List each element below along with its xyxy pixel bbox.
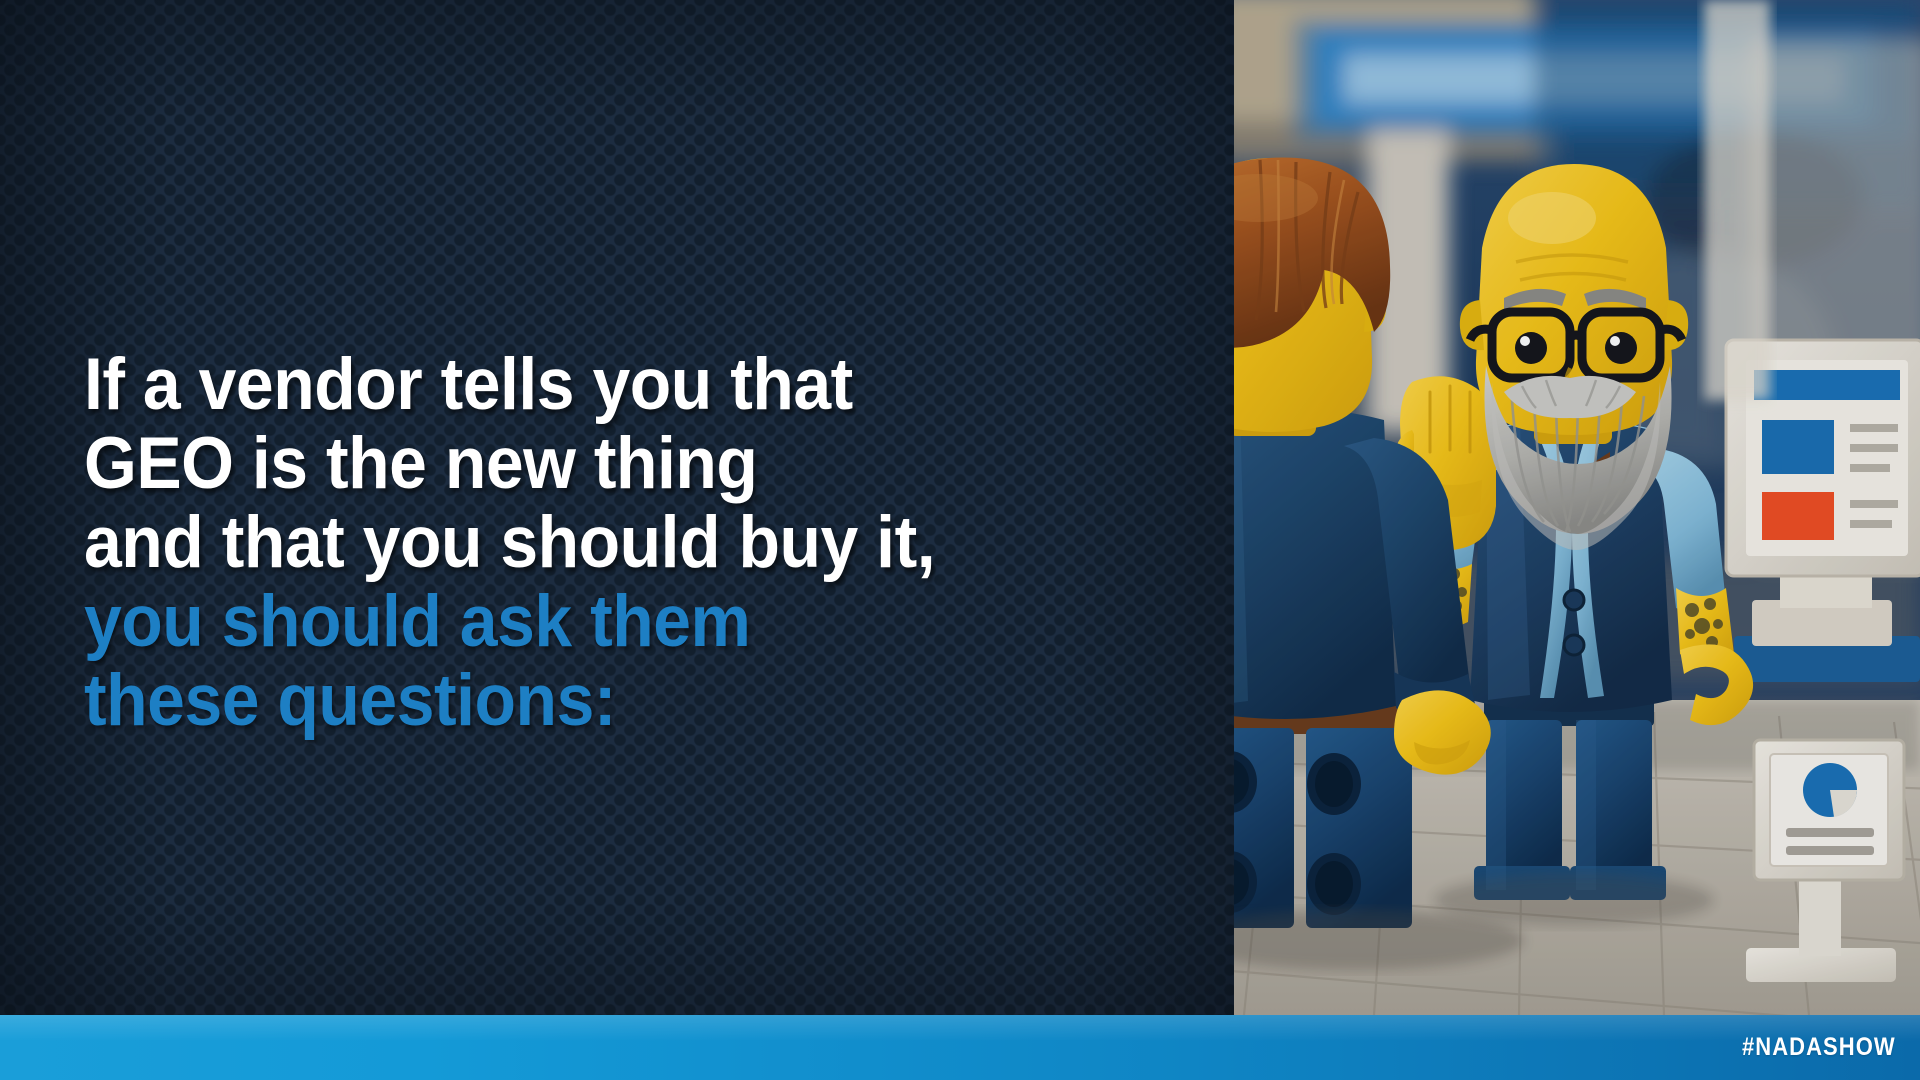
headline-line-5: these questions:: [84, 661, 1088, 740]
headline-line-4: you should ask them: [84, 582, 1088, 661]
headline-line-2: GEO is the new thing: [84, 424, 1088, 503]
lego-photo: [1234, 0, 1920, 1015]
lego-scene-illustration: [1234, 0, 1920, 1015]
slide-root: If a vendor tells you that GEO is the ne…: [0, 0, 1920, 1080]
headline-block: If a vendor tells you that GEO is the ne…: [84, 345, 1164, 740]
event-hashtag: #NADASHOW: [1742, 1033, 1896, 1062]
headline-line-3: and that you should buy it,: [84, 503, 1088, 582]
footer-bar: #NADASHOW: [0, 1015, 1920, 1080]
footer-bar-sheen: [0, 1015, 1920, 1041]
headline-line-1: If a vendor tells you that: [84, 345, 1088, 424]
